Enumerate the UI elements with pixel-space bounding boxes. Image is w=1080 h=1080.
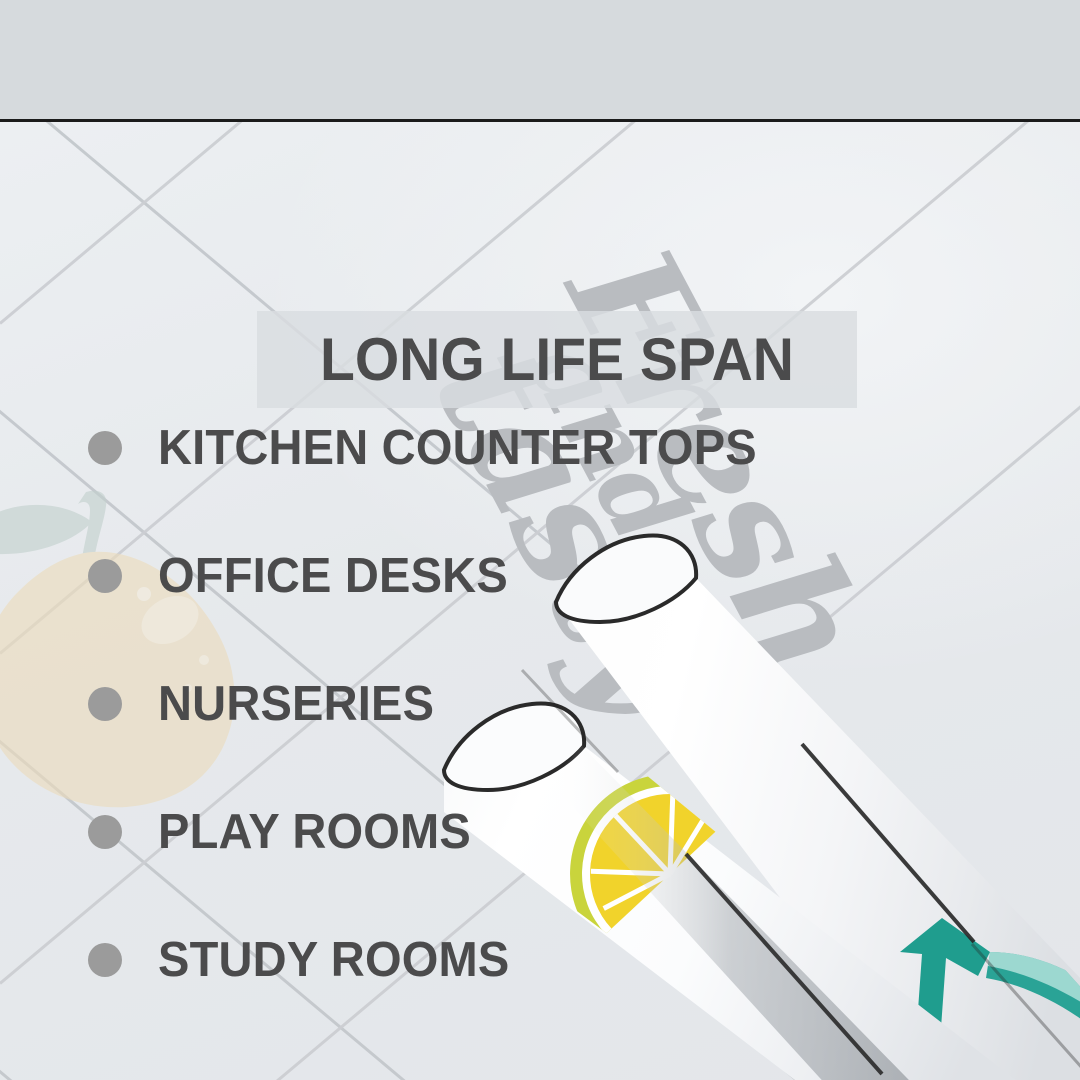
bullet-dot-icon xyxy=(88,559,122,593)
product-feature-poster: Fresh and tasty xyxy=(0,0,1080,1080)
bullet-dot-icon xyxy=(88,687,122,721)
bullet-dot-icon xyxy=(88,431,122,465)
header-band xyxy=(0,0,1080,119)
list-item: OFFICE DESKS xyxy=(0,512,780,640)
feature-label: NURSERIES xyxy=(158,676,434,732)
feature-label: OFFICE DESKS xyxy=(158,548,508,604)
bullet-dot-icon xyxy=(88,815,122,849)
bullet-dot-icon xyxy=(88,943,122,977)
list-item: KITCHEN COUNTER TOPS xyxy=(0,384,780,512)
list-item: PLAY ROOMS xyxy=(0,768,780,896)
feature-label: STUDY ROOMS xyxy=(158,932,509,988)
feature-list: KITCHEN COUNTER TOPS OFFICE DESKS NURSER… xyxy=(0,384,780,1024)
header-divider xyxy=(0,119,1080,122)
tiled-wall-photo: Fresh and tasty xyxy=(0,122,1080,1080)
list-item: STUDY ROOMS xyxy=(0,896,780,1024)
list-item: NURSERIES xyxy=(0,640,780,768)
feature-label: KITCHEN COUNTER TOPS xyxy=(158,420,757,476)
feature-label: PLAY ROOMS xyxy=(158,804,471,860)
